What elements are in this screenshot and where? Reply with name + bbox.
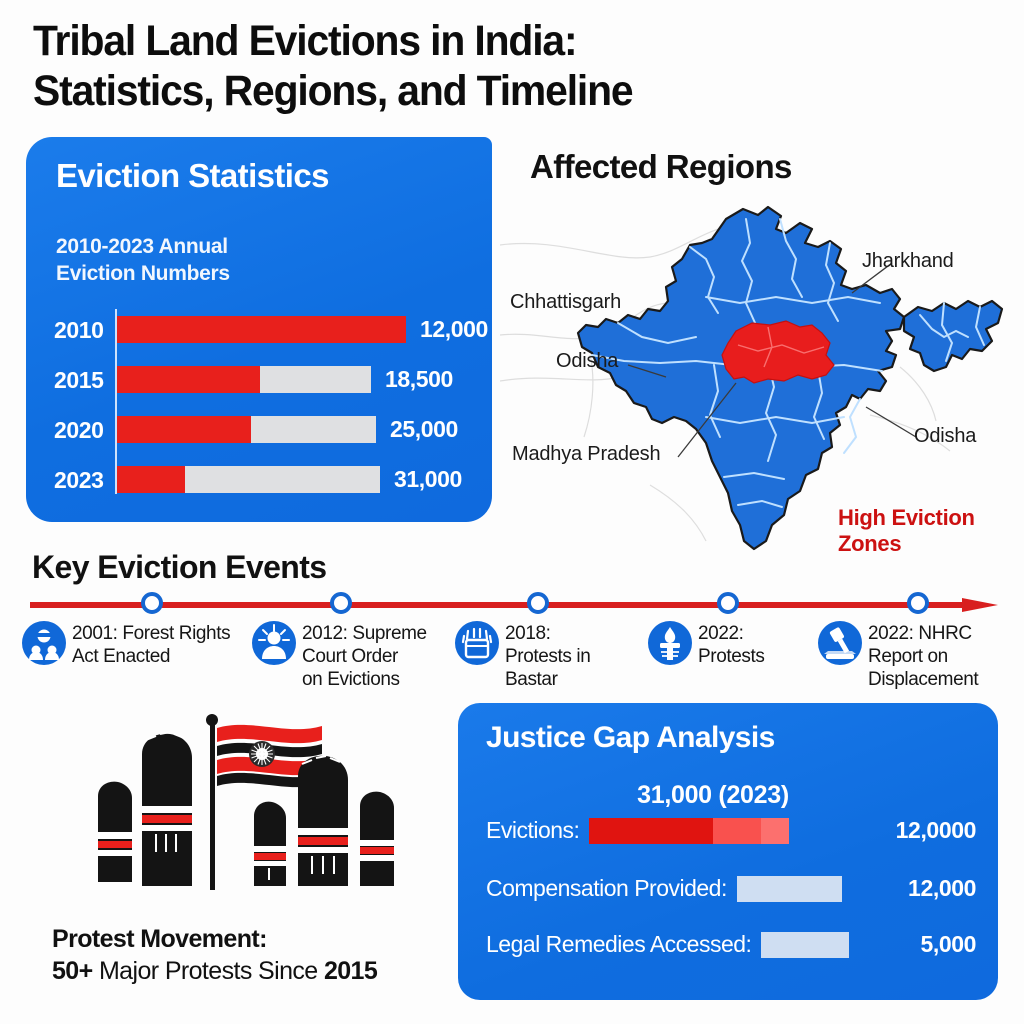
timeline-event-item[interactable]: 2022: NHRC Report on Displacement (818, 621, 978, 691)
eviction-bar-year: 2023 (54, 467, 114, 494)
raised-fist-icon-4 (298, 756, 348, 886)
title-line-2: Statistics, Regions, and Timeline (33, 66, 888, 116)
map-label-odisha-left: Odisha (556, 350, 618, 373)
timeline-event-item[interactable]: 2022: Protests (648, 621, 765, 668)
eviction-bar-track (117, 466, 380, 493)
eviction-bar-value: 12,000 (420, 316, 488, 343)
eviction-bar-track (117, 416, 376, 443)
protest-caption: Protest Movement: 50+ Major Protests Sin… (52, 923, 452, 987)
justice-gap-value: 12,0000 (896, 817, 976, 844)
justice-person-icon (252, 621, 296, 665)
eviction-bar-value: 25,000 (390, 416, 458, 443)
eviction-bar-value: 31,000 (394, 466, 462, 493)
megaphone-icon (455, 621, 499, 665)
people-icon (22, 621, 66, 665)
timeline-event-item[interactable]: 2012: Supreme Court Order on Evictions (252, 621, 427, 691)
justice-gap-headline: 31,000 (2023) (458, 781, 998, 810)
eviction-statistics-panel: Eviction Statistics 2010-2023 Annual Evi… (26, 137, 492, 522)
map-label-odisha-right: Odisha (914, 425, 976, 448)
timeline-node[interactable] (330, 592, 352, 614)
chakra-icon (249, 741, 275, 767)
gavel-icon (818, 621, 862, 665)
justice-gap-label: Compensation Provided: (486, 875, 727, 902)
justice-gap-row: Evictions:12,0000 (486, 817, 976, 844)
high-eviction-zone-highlight (722, 321, 834, 383)
key-events-title: Key Eviction Events (32, 549, 327, 586)
timeline-node[interactable] (527, 592, 549, 614)
eviction-bar-value: 18,500 (385, 366, 453, 393)
timeline-event-item[interactable]: 2018: Protests in Bastar (455, 621, 590, 691)
timeline-arrow-icon (962, 598, 998, 612)
protest-illustration (60, 710, 440, 910)
justice-gap-row: Legal Remedies Accessed:5,000 (486, 931, 976, 958)
timeline-event-label: 2018: Protests in Bastar (505, 621, 590, 691)
eviction-bar-year: 2015 (54, 367, 114, 394)
india-map: Chhattisgarh Odisha Madhya Pradesh Jhark… (500, 185, 1024, 560)
protest-caption-middle: Major Protests Since (93, 957, 324, 985)
infographic-page: Tribal Land Evictions in India: Statisti… (0, 0, 1024, 1024)
page-title: Tribal Land Evictions in India: Statisti… (33, 16, 933, 116)
justice-gap-value: 12,000 (908, 875, 976, 902)
eviction-statistics-title: Eviction Statistics (56, 157, 329, 195)
justice-gap-panel: Justice Gap Analysis 31,000 (2023) Evict… (458, 703, 998, 1000)
map-legend-high-eviction-zones: High Eviction Zones (838, 505, 1008, 557)
raised-fist-icon-1 (98, 782, 132, 882)
affected-regions-title: Affected Regions (530, 148, 792, 186)
justice-gap-bar (761, 932, 849, 958)
timeline-node[interactable] (141, 592, 163, 614)
map-label-madhya-pradesh: Madhya Pradesh (512, 443, 660, 466)
raised-fist-icon-2 (142, 732, 192, 886)
eviction-bar-track (117, 366, 371, 393)
eviction-bar-fill (117, 366, 260, 393)
title-line-1: Tribal Land Evictions in India: (33, 16, 888, 66)
map-label-jharkhand: Jharkhand (862, 250, 954, 273)
justice-gap-title: Justice Gap Analysis (486, 721, 775, 755)
map-label-chhattisgarh: Chhattisgarh (510, 291, 621, 314)
eviction-bar-fill (117, 316, 406, 343)
timeline-event-label: 2001: Forest Rights Act Enacted (72, 621, 230, 668)
leader-odisha-right (866, 407, 916, 437)
eviction-bar-fill (117, 466, 185, 493)
timeline-node[interactable] (717, 592, 739, 614)
timeline-event-item[interactable]: 2001: Forest Rights Act Enacted (22, 621, 230, 668)
eviction-bar-fill (117, 416, 251, 443)
timeline-event-label: 2022: Protests (698, 621, 765, 668)
timeline-event-label: 2012: Supreme Court Order on Evictions (302, 621, 427, 691)
justice-gap-label: Legal Remedies Accessed: (486, 931, 751, 958)
raised-fist-icon-3 (254, 802, 286, 886)
justice-gap-bar (589, 818, 789, 844)
timeline-event-label: 2022: NHRC Report on Displacement (868, 621, 978, 691)
timeline-axis (30, 598, 998, 612)
protest-caption-line-2: 50+ Major Protests Since 2015 (52, 955, 452, 987)
eviction-bar-year: 2010 (54, 317, 114, 344)
justice-gap-label: Evictions: (486, 817, 579, 844)
protest-count: 50+ (52, 957, 93, 985)
eviction-statistics-subtitle: 2010-2023 Annual Eviction Numbers (56, 233, 356, 287)
raised-fist-icon-5 (360, 792, 394, 886)
northeast-states (904, 301, 1002, 371)
protest-since-year: 2015 (324, 957, 377, 985)
eviction-bar-track (117, 316, 406, 343)
timeline-node[interactable] (907, 592, 929, 614)
protest-caption-line-1: Protest Movement: (52, 923, 452, 955)
torch-icon (648, 621, 692, 665)
justice-gap-value: 5,000 (920, 931, 976, 958)
justice-gap-row: Compensation Provided:12,000 (486, 875, 976, 902)
eviction-bar-year: 2020 (54, 417, 114, 444)
justice-gap-bar (737, 876, 842, 902)
